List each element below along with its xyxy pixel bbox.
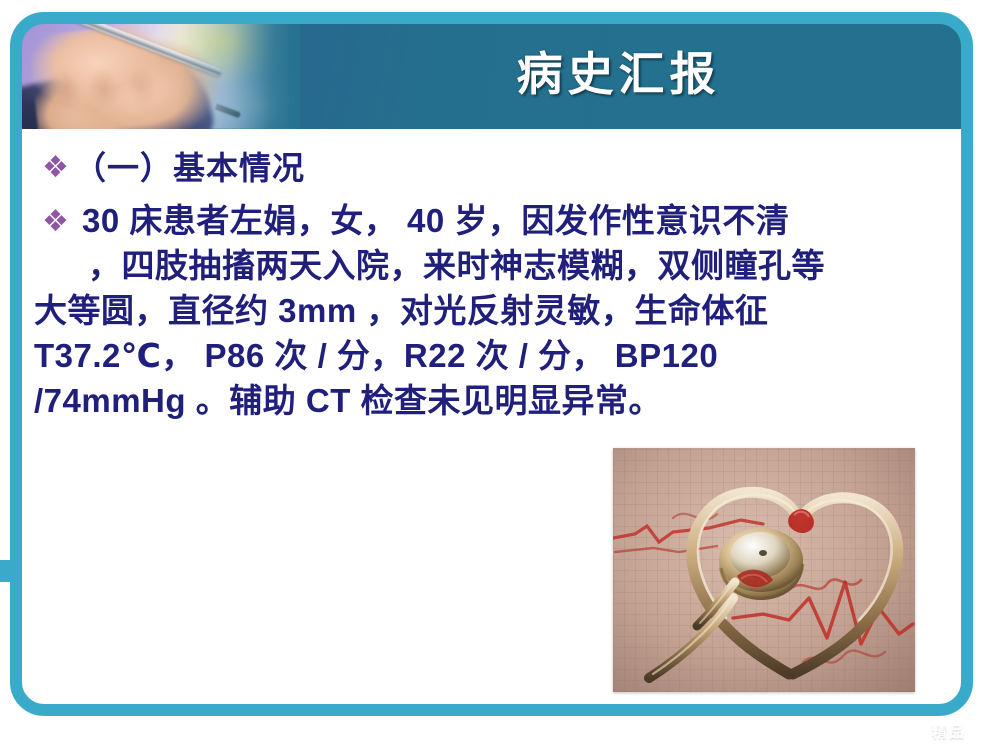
- stethoscope-icon: [613, 448, 915, 692]
- section-heading-text: （一）基本情况: [74, 148, 305, 188]
- frame-accent-notch: [0, 560, 12, 582]
- watermark-label: 精品: [932, 721, 966, 742]
- diamond-bullet-icon: ❖: [30, 148, 74, 188]
- slide-root: 病史汇报 ❖ （一）基本情况 ❖ 30 床患者左娟，女， 40 岁，因发作性意识…: [0, 0, 1000, 750]
- diamond-bullet-icon: ❖: [30, 198, 74, 246]
- header-underline: [22, 129, 961, 135]
- photo-fade-overlay: [10, 12, 300, 129]
- case-line: /74mmHg 。辅助 CT 检查未见明显异常。: [34, 378, 942, 423]
- case-line: 30 床患者左娟，女， 40 岁，因发作性意识不清: [74, 198, 942, 243]
- case-line: T37.2℃， P86 次 / 分，R22 次 / 分， BP120: [34, 333, 942, 378]
- case-line: 大等圆，直径约 3mm ，对光反射灵敏，生命体征: [34, 288, 942, 333]
- hand-with-pen-photo: [10, 12, 300, 129]
- case-description-text: 30 床患者左娟，女， 40 岁，因发作性意识不清 ，四肢抽搐两天入院，来时神志…: [74, 198, 942, 423]
- slide-header: 病史汇报: [10, 12, 973, 129]
- case-line: ，四肢抽搐两天入院，来时神志模糊，双侧瞳孔等: [74, 243, 942, 288]
- bullet-item-paragraph: ❖ 30 床患者左娟，女， 40 岁，因发作性意识不清 ，四肢抽搐两天入院，来时…: [30, 198, 960, 423]
- stethoscope-heart-ecg-photo: [613, 448, 915, 692]
- page-title: 病史汇报: [300, 12, 973, 129]
- bullet-item-heading: ❖ （一）基本情况: [30, 148, 960, 188]
